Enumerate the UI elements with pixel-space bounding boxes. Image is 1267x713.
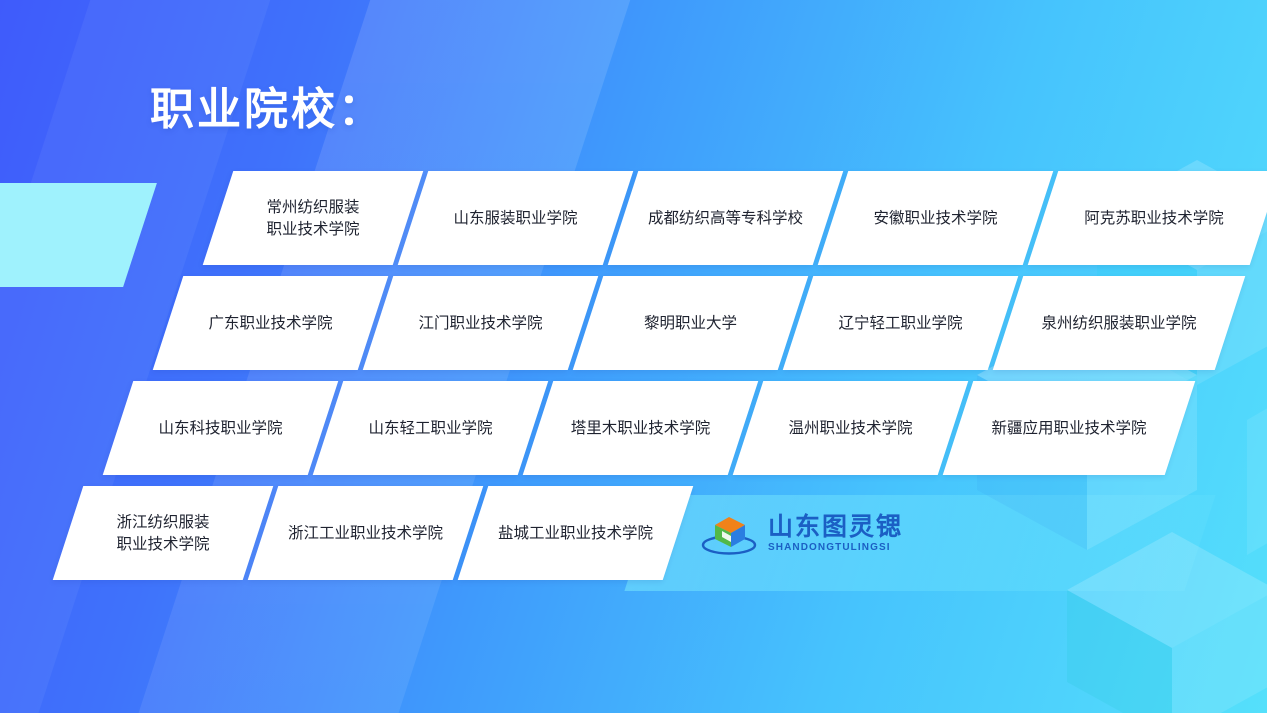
- school-card[interactable]: 泉州纺织服装职业学院: [993, 276, 1246, 370]
- school-card[interactable]: 浙江工业职业技术学院: [248, 486, 484, 580]
- school-card-label: 盐城工业职业技术学院: [498, 522, 653, 544]
- school-card[interactable]: 辽宁轻工职业学院: [783, 276, 1019, 370]
- school-card[interactable]: 盐城工业职业技术学院: [458, 486, 694, 580]
- school-card-grid: 常州纺织服装 职业技术学院 山东服装职业学院 成都纺织高等专科学校 安徽职业技术…: [0, 171, 1267, 591]
- school-card-label: 山东科技职业学院: [158, 417, 282, 439]
- school-card[interactable]: 黎明职业大学: [573, 276, 809, 370]
- school-card-label: 阿克苏职业技术学院: [1084, 207, 1224, 229]
- school-card-label: 塔里木职业技术学院: [571, 417, 711, 439]
- school-card-label: 山东服装职业学院: [453, 207, 577, 229]
- school-card-label: 安徽职业技术学院: [873, 207, 997, 229]
- school-card[interactable]: 安徽职业技术学院: [818, 171, 1054, 265]
- school-card-label: 浙江工业职业技术学院: [288, 522, 443, 544]
- school-card-label: 广东职业技术学院: [208, 312, 332, 334]
- school-card-label: 新疆应用职业技术学院: [991, 417, 1146, 439]
- school-card-label: 成都纺织高等专科学校: [648, 207, 803, 229]
- logo-cube-icon: [700, 509, 758, 559]
- school-card[interactable]: 浙江纺织服装 职业技术学院: [53, 486, 274, 580]
- school-card-label: 山东轻工职业学院: [368, 417, 492, 439]
- school-card[interactable]: 山东服装职业学院: [398, 171, 634, 265]
- school-card-label: 温州职业技术学院: [788, 417, 912, 439]
- school-card[interactable]: 广东职业技术学院: [153, 276, 389, 370]
- school-card-label: 浙江纺织服装 职业技术学院: [116, 511, 209, 556]
- school-card[interactable]: 山东科技职业学院: [103, 381, 339, 475]
- slide-root: 职业院校： 常州纺织服装 职业技术学院 山东服装职业学院 成都纺织高等专科学校 …: [0, 0, 1267, 713]
- school-card[interactable]: 成都纺织高等专科学校: [608, 171, 844, 265]
- school-card-label: 黎明职业大学: [644, 312, 737, 334]
- logo-name-cn: 山东图灵锶: [768, 514, 903, 540]
- school-card[interactable]: 塔里木职业技术学院: [523, 381, 759, 475]
- school-card-label: 泉州纺织服装职业学院: [1041, 312, 1196, 334]
- school-row-1: 常州纺织服装 职业技术学院 山东服装职业学院 成都纺织高等专科学校 安徽职业技术…: [0, 171, 1267, 275]
- page-title: 职业院校：: [150, 88, 385, 132]
- school-card[interactable]: 温州职业技术学院: [733, 381, 969, 475]
- school-card-label: 辽宁轻工职业学院: [838, 312, 962, 334]
- school-card[interactable]: 山东轻工职业学院: [313, 381, 549, 475]
- school-card[interactable]: 常州纺织服装 职业技术学院: [203, 171, 424, 265]
- school-card[interactable]: 江门职业技术学院: [363, 276, 599, 370]
- school-card-label: 江门职业技术学院: [418, 312, 542, 334]
- school-row-2: 广东职业技术学院 江门职业技术学院 黎明职业大学 辽宁轻工职业学院 泉州纺织服装…: [0, 276, 1267, 380]
- brand-logo: 山东图灵锶 SHANDONGTULINGSI: [700, 508, 903, 560]
- school-row-3: 山东科技职业学院 山东轻工职业学院 塔里木职业技术学院 温州职业技术学院 新疆应…: [0, 381, 1267, 485]
- school-card-label: 常州纺织服装 职业技术学院: [266, 196, 359, 241]
- school-card[interactable]: 新疆应用职业技术学院: [943, 381, 1196, 475]
- logo-name-en: SHANDONGTULINGSI: [768, 542, 903, 554]
- school-row-4: 浙江纺织服装 职业技术学院 浙江工业职业技术学院 盐城工业职业技术学院: [0, 486, 1267, 590]
- school-card[interactable]: 阿克苏职业技术学院: [1028, 171, 1267, 265]
